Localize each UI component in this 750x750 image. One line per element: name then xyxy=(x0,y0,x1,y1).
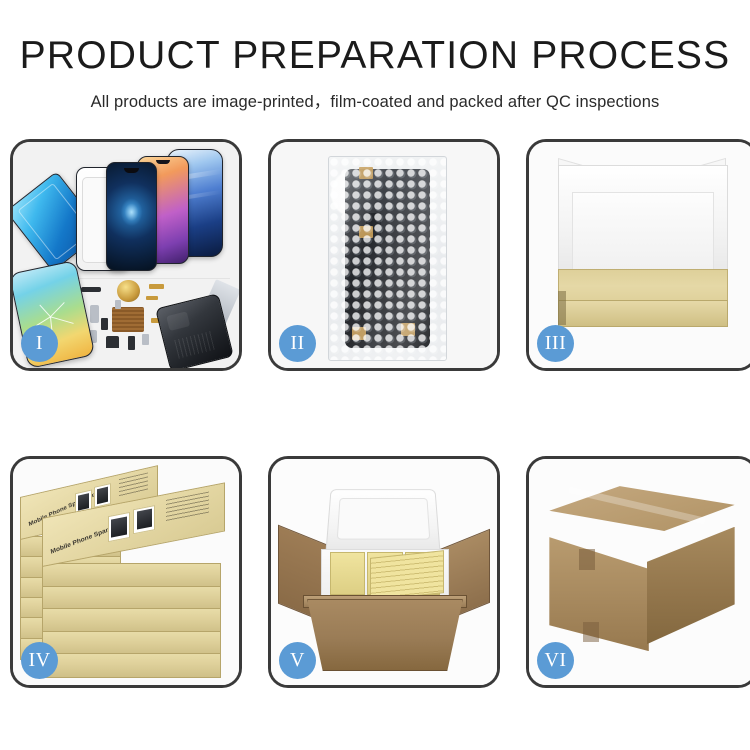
gold-flex-icon xyxy=(149,284,165,289)
process-panel-5: V xyxy=(268,456,500,688)
kraft-tray-left-edge xyxy=(558,291,566,325)
panel-badge-2: II xyxy=(279,325,316,362)
tape-patch-icon xyxy=(583,622,599,642)
yellow-boxes-stack xyxy=(370,550,444,600)
bubble-wrap-bag-icon xyxy=(328,156,448,361)
process-panel-6: VI xyxy=(526,456,750,688)
panel-badge-3: III xyxy=(537,325,574,362)
plastic-sheen xyxy=(329,157,447,360)
dark-display-phone-icon xyxy=(106,162,158,270)
stacked-box xyxy=(42,586,220,611)
screen-print-icon xyxy=(134,504,156,534)
panel-badge-5: V xyxy=(279,642,316,679)
panel-badge-4: IV xyxy=(21,642,58,679)
page-header: PRODUCT PREPARATION PROCESS All products… xyxy=(0,0,750,112)
kraft-tray-front xyxy=(558,300,727,327)
process-panel-2: II xyxy=(268,139,500,371)
stacked-box xyxy=(42,608,220,633)
page-subtitle: All products are image-printed，film-coat… xyxy=(0,88,750,112)
foam-lid-icon xyxy=(325,489,441,556)
stacked-box xyxy=(42,563,220,588)
carton-left-face xyxy=(549,534,648,652)
small-part-icon xyxy=(106,336,120,347)
gold-coin-part-icon xyxy=(117,280,140,303)
process-panel-4: Mobile Phone Spare Parts Mobile Pho xyxy=(10,456,242,688)
panel-badge-6: VI xyxy=(537,642,574,679)
small-part-icon xyxy=(101,318,108,329)
process-panel-3: III xyxy=(526,139,750,371)
carton-body-icon xyxy=(307,599,463,671)
small-part-icon xyxy=(128,336,135,350)
process-panel-1: I xyxy=(10,139,242,371)
small-part-icon xyxy=(115,300,122,309)
tape-patch-icon xyxy=(579,549,595,569)
page-title: PRODUCT PREPARATION PROCESS xyxy=(0,36,750,77)
panel-badge-1: I xyxy=(21,325,58,362)
small-part-icon xyxy=(142,334,149,345)
yellow-box xyxy=(330,552,366,595)
process-panel-grid: I II xyxy=(10,139,742,688)
lid-inner-panel xyxy=(572,192,714,280)
connector-chip-icon xyxy=(81,287,101,292)
gold-flex-icon xyxy=(146,296,157,301)
stacked-box xyxy=(42,631,220,656)
screen-print-icon xyxy=(108,512,130,542)
small-part-icon xyxy=(90,305,99,323)
stacked-box xyxy=(42,653,220,678)
circuit-board-icon xyxy=(112,307,144,332)
carton-right-face xyxy=(647,527,735,645)
